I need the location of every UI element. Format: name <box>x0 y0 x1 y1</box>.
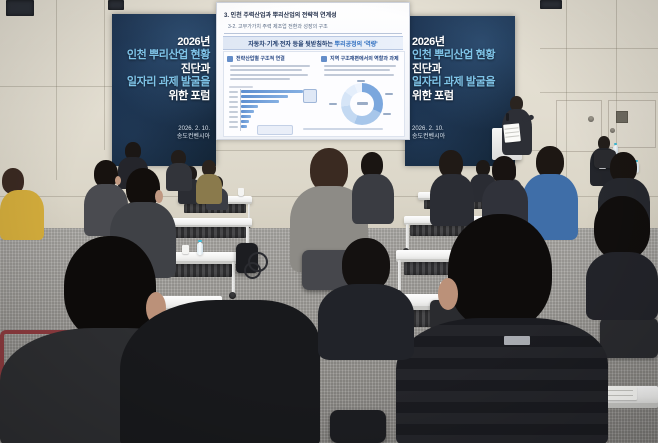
banner-right-line2: 진단과 <box>412 63 441 75</box>
ceiling-vent <box>540 0 562 9</box>
attendee-torso <box>586 252 658 320</box>
bar-value <box>241 90 303 93</box>
panel-marker-icon <box>227 56 233 62</box>
wall-seam <box>56 0 57 180</box>
banner-right-date: 2026. 2. 10. <box>412 126 444 132</box>
slide-right-panel: 지역 구조재편에서의 역할과 과제 <box>321 55 401 131</box>
slide-banner-title: 자동차·기계·전자 등을 뒷받침하는 뿌리공정의 '역량' <box>223 36 403 50</box>
backpack <box>330 410 386 443</box>
banner-left-year: 2026년 <box>127 36 210 49</box>
slide-footer-tag <box>257 125 293 135</box>
bar-value <box>241 105 258 108</box>
donut-slice-label <box>329 103 337 105</box>
attendee <box>586 196 658 316</box>
ceiling-vent <box>108 0 124 10</box>
attendee-ear <box>155 190 163 203</box>
wall-outlet-icon <box>616 111 628 123</box>
bar-category-label <box>229 126 238 128</box>
panel-text-line <box>230 65 310 67</box>
attendee-ear <box>438 278 458 310</box>
banner-left-line2: 진단과 <box>181 63 210 75</box>
panel-text-line <box>230 74 308 76</box>
attendee <box>318 238 414 356</box>
panel-text-line <box>324 65 396 67</box>
slide-section-heading: 3. 인천 주력산업과 뿌리산업의 전략적 연계성 <box>224 10 337 19</box>
paper-cup <box>238 188 244 196</box>
wall-seam <box>104 0 105 150</box>
banner-right-line4: 위한 포럼 <box>412 90 454 102</box>
bar-chart-callout <box>303 89 317 103</box>
bar-value <box>241 95 288 98</box>
banner-right-line1: 인천 뿌리산업 현황 <box>412 49 495 61</box>
slide-divider <box>224 33 402 34</box>
attendee-padded-vest <box>396 318 608 443</box>
banner-left-line1: 인천 뿌리산업 현황 <box>127 49 210 61</box>
attendee <box>120 300 320 443</box>
attendee-head <box>448 214 552 330</box>
attendee <box>0 168 44 238</box>
chair <box>600 318 658 358</box>
donut-slice-label <box>385 93 393 95</box>
bar-category-label <box>229 121 238 123</box>
bar-value <box>241 110 254 113</box>
banner-left-venue: 송도컨벤시아 <box>177 134 210 140</box>
bar-category-label <box>229 111 238 113</box>
wall-seam <box>540 92 658 93</box>
donut-slice-label <box>383 113 391 115</box>
bar-value <box>241 100 279 103</box>
slide-left-heading: 전략산업별 구조적 연결 <box>236 55 285 62</box>
bar-category-label <box>229 101 238 103</box>
wall-fixture-icon <box>610 128 615 133</box>
banner-left-date: 2026. 2. 10. <box>178 126 210 132</box>
bar-category-label <box>229 91 238 93</box>
donut-slice-label <box>357 80 365 82</box>
banner-right-venue: 송도컨벤시아 <box>412 134 445 140</box>
attendee-torso <box>196 174 222 204</box>
attendee <box>196 160 222 202</box>
bar-value <box>241 125 247 128</box>
bar-category-label <box>229 106 238 108</box>
chart-axis-label <box>229 86 253 88</box>
attendee-torso <box>352 174 394 224</box>
slide-sub-heading: 3-2. 고부가가치 주력 제조업 전환과 성장의 구조 <box>228 23 328 30</box>
ceiling-vent <box>6 0 34 16</box>
wall-seam <box>540 48 658 49</box>
slide-title-highlight: 뿌리공정의 '역량' <box>335 42 378 48</box>
slide-left-panel: 전략산업별 구조적 연결 <box>227 55 315 131</box>
panel-marker-icon <box>321 56 327 62</box>
bar-value <box>241 120 249 123</box>
panel-text-line <box>324 69 390 71</box>
vest-brand-label-icon <box>504 336 530 345</box>
wall-fixture-icon <box>588 116 594 122</box>
banner-right-line3: 일자리 과제 발굴을 <box>412 76 495 88</box>
slide-right-heading: 지역 구조재편에서의 역할과 과제 <box>330 55 399 62</box>
slide-footer-note <box>303 128 383 130</box>
attendee-torso <box>120 300 320 443</box>
attendee-torso <box>318 284 414 360</box>
donut-center-label <box>357 102 368 105</box>
banner-left-line3: 일자리 과제 발굴을 <box>127 76 210 88</box>
panel-text-line <box>324 74 394 76</box>
attendee <box>430 150 474 224</box>
bar-category-label <box>229 96 238 98</box>
wall-seam <box>0 86 112 87</box>
bar-value <box>241 115 251 118</box>
desk-leg <box>232 262 235 294</box>
attendee <box>352 152 394 222</box>
panel-text-line <box>230 78 290 80</box>
backpack-strap <box>244 262 261 279</box>
slide-title-prefix: 자동차·기계·전자 등을 뒷받침하는 <box>248 42 334 48</box>
attendee-torso <box>0 190 44 240</box>
attendee <box>396 214 608 443</box>
handheld-microphone-icon <box>506 113 509 121</box>
attendee-head <box>594 196 650 260</box>
desk-caster <box>229 292 236 299</box>
banner-left-line4: 위한 포럼 <box>168 90 210 102</box>
conference-photo: 2026년 인천 뿌리산업 현황 진단과 일자리 과제 발굴을 위한 포럼 20… <box>0 0 658 443</box>
bar-category-label <box>229 116 238 118</box>
banner-right-year: 2026년 <box>412 36 495 49</box>
speaker-handout <box>503 123 521 143</box>
projection-screen: 3. 인천 주력산업과 뿌리산업의 전략적 연계성 3-2. 고부가가치 주력 … <box>216 2 410 140</box>
panel-text-line <box>230 69 302 71</box>
